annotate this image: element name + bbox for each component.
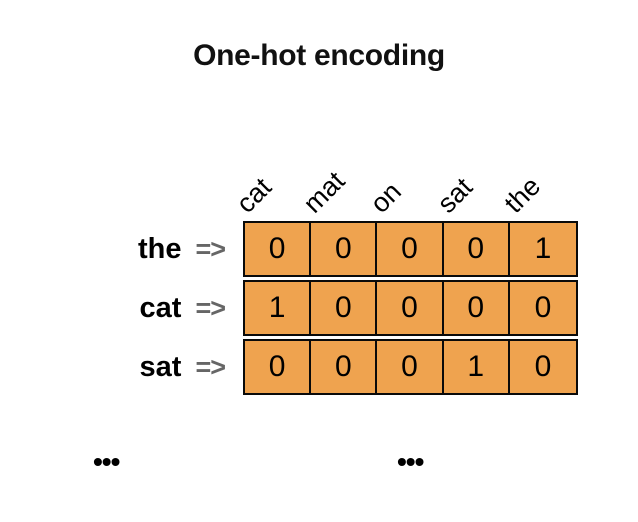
matrix-cell: 0 [245, 341, 311, 393]
matrix-cell: 0 [311, 223, 377, 275]
matrix-cell: 1 [245, 282, 311, 334]
matrix-cell: 0 [311, 282, 377, 334]
table-row: 0 0 0 1 0 [243, 339, 578, 395]
row-label-the: the => [0, 221, 243, 277]
ellipsis-matrix: ••• [397, 448, 423, 476]
matrix-cell: 0 [245, 223, 311, 275]
table-row: 1 0 0 0 0 [243, 280, 578, 336]
page-title: One-hot encoding [0, 36, 638, 76]
column-header-on: on [377, 118, 444, 218]
ellipsis-rows: ••• [93, 448, 119, 476]
arrow-icon: => [195, 236, 225, 263]
matrix-cell: 0 [510, 282, 576, 334]
column-header-label: cat [232, 173, 277, 218]
column-header-cat: cat [243, 118, 310, 218]
table-row: 0 0 0 0 1 [243, 221, 578, 277]
row-word: sat [140, 353, 182, 382]
matrix-cell: 0 [444, 282, 510, 334]
matrix-cell: 0 [311, 341, 377, 393]
row-label-sat: sat => [0, 339, 243, 395]
matrix-cell: 0 [377, 223, 443, 275]
column-header-row: cat mat on sat the [243, 118, 578, 218]
matrix-cell: 0 [377, 282, 443, 334]
matrix-cell: 1 [444, 341, 510, 393]
row-word: the [138, 235, 182, 264]
matrix-cell: 1 [510, 223, 576, 275]
arrow-icon: => [195, 295, 225, 322]
column-header-mat: mat [310, 118, 377, 218]
column-header-the: the [511, 118, 578, 218]
one-hot-matrix: 0 0 0 0 1 1 0 0 0 0 0 0 0 1 0 [243, 221, 578, 395]
matrix-cell: 0 [510, 341, 576, 393]
arrow-icon: => [195, 354, 225, 381]
row-label-cat: cat => [0, 280, 243, 336]
row-word: cat [140, 294, 182, 323]
matrix-cell: 0 [377, 341, 443, 393]
matrix-cell: 0 [444, 223, 510, 275]
column-header-sat: sat [444, 118, 511, 218]
